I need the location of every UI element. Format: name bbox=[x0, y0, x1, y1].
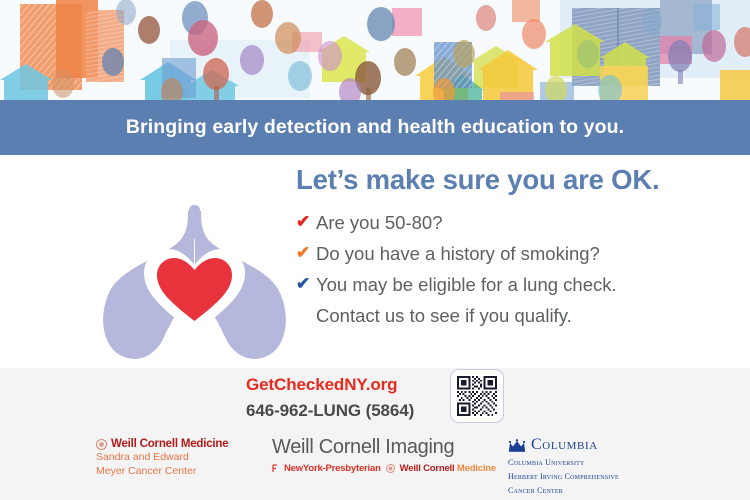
page-title: Let’s make sure you are OK. bbox=[296, 165, 726, 195]
contact-prompt: Contact us to see if you qualify. bbox=[316, 304, 726, 329]
logo-row: Weill Cornell Medicine Sandra and Edward… bbox=[0, 436, 750, 492]
copy-block: Let’s make sure you are OK. ✔ Are you 50… bbox=[296, 165, 726, 329]
banner: Bringing early detection and health educ… bbox=[0, 100, 750, 155]
logo-sub-line-2: Meyer Cancer Center bbox=[96, 465, 228, 478]
logo-partner-nyp: NewYork-Presbyterian bbox=[284, 463, 381, 474]
list-item: ✔ Do you have a history of smoking? bbox=[296, 242, 726, 267]
list-item-label: You may be eligible for a lung check. bbox=[316, 273, 617, 298]
list-item: ✔ Are you 50-80? bbox=[296, 211, 726, 236]
logo-label: Columbia bbox=[531, 436, 598, 454]
lungs-with-heart-icon bbox=[92, 205, 297, 365]
qr-code[interactable] bbox=[450, 369, 504, 423]
nyp-mark-icon bbox=[272, 464, 279, 473]
list-item-label: Are you 50-80? bbox=[316, 211, 443, 236]
main-content: Let’s make sure you are OK. ✔ Are you 50… bbox=[0, 155, 750, 368]
website-link[interactable]: GetCheckedNY.org bbox=[246, 372, 414, 398]
cornell-seal-icon bbox=[386, 464, 395, 473]
qr-code-image bbox=[457, 376, 497, 416]
logo-columbia: Columbia Columbia University Herbert Irv… bbox=[508, 436, 619, 497]
contact-block: GetCheckedNY.org 646-962-LUNG (5864) bbox=[246, 372, 414, 423]
cornell-seal-icon bbox=[96, 439, 107, 450]
logo-label: Weill Cornell Imaging bbox=[272, 436, 496, 459]
logo-partner-wcm-medicine: Medicine bbox=[457, 463, 496, 474]
logo-weill-cornell-medicine: Weill Cornell Medicine Sandra and Edward… bbox=[96, 438, 228, 478]
check-icon: ✔ bbox=[296, 242, 316, 265]
check-icon: ✔ bbox=[296, 273, 316, 296]
logo-partner-wcm: Weill Cornell bbox=[400, 463, 455, 474]
check-icon: ✔ bbox=[296, 211, 316, 234]
logo-sub-line-3: Cancer Center bbox=[508, 485, 619, 496]
poster: Bringing early detection and health educ… bbox=[0, 0, 750, 500]
eligibility-list: ✔ Are you 50-80? ✔ Do you have a history… bbox=[296, 211, 726, 298]
logo-weill-cornell-imaging: Weill Cornell Imaging NewYork-Presbyteri… bbox=[272, 436, 496, 474]
artwork-svg bbox=[0, 0, 750, 100]
crown-icon bbox=[508, 439, 526, 452]
list-item: ✔ You may be eligible for a lung check. bbox=[296, 273, 726, 298]
watercolor-community-illustration bbox=[0, 0, 750, 100]
logo-sub-line-2: Herbert Irving Comprehensive bbox=[508, 471, 619, 482]
banner-text: Bringing early detection and health educ… bbox=[0, 116, 750, 139]
logo-sub-line-1: Sandra and Edward bbox=[96, 451, 228, 464]
phone-number[interactable]: 646-962-LUNG (5864) bbox=[246, 398, 414, 424]
logo-label: Weill Cornell Medicine bbox=[111, 438, 228, 450]
list-item-label: Do you have a history of smoking? bbox=[316, 242, 600, 267]
footer: GetCheckedNY.org 646-962-LUNG (5864) Wei… bbox=[0, 368, 750, 500]
logo-sub-line-1: Columbia University bbox=[508, 457, 619, 468]
